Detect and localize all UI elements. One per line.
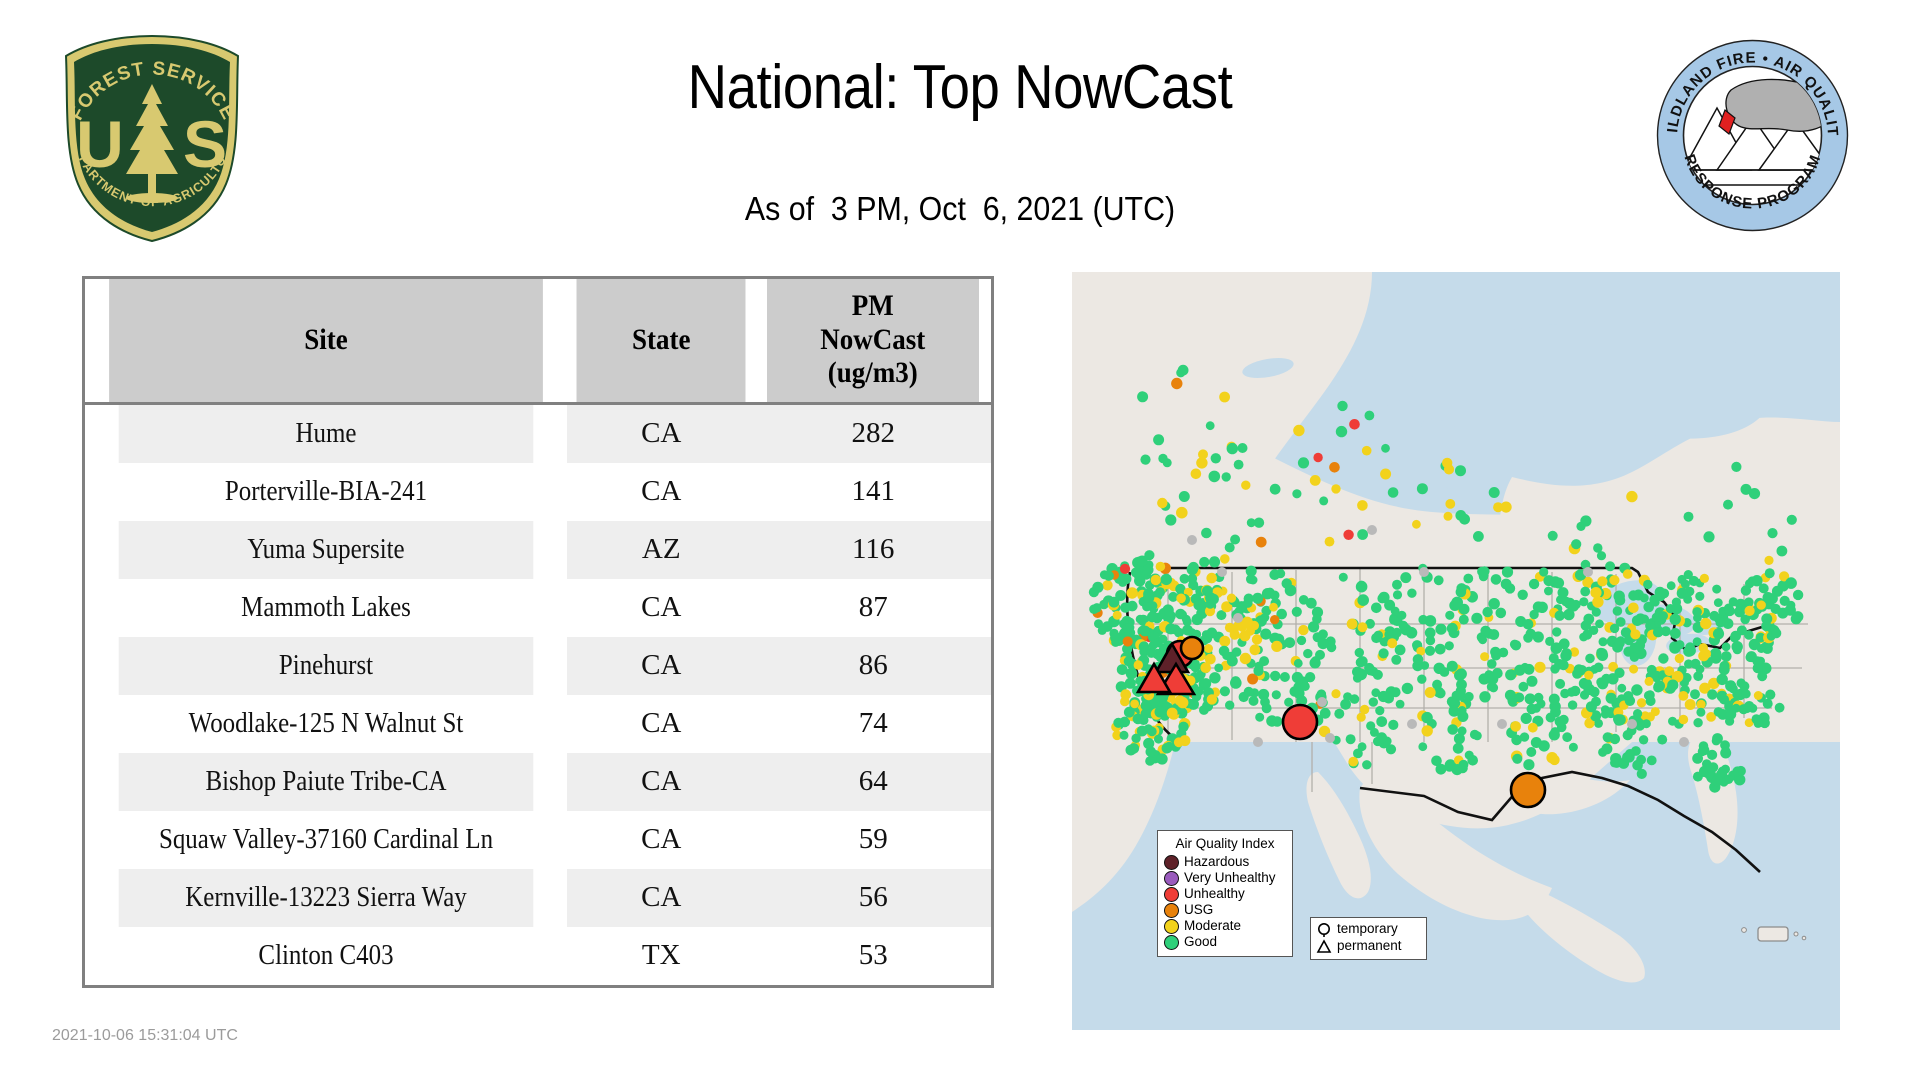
aqi-site-dot [1740, 615, 1750, 625]
aqi-site-dot [1407, 627, 1417, 637]
aqi-site-dot [1110, 632, 1121, 643]
aqi-site-dot [1130, 700, 1139, 709]
aqi-site-dot [1537, 699, 1546, 708]
aqi-site-dot [1124, 707, 1135, 718]
table-row: Mammoth LakesCA87 [85, 579, 991, 637]
table-cell-site: Mammoth Lakes [119, 579, 534, 637]
aqi-site-dot [1318, 629, 1328, 639]
aqi-site-dot [1196, 457, 1207, 468]
aqi-site-dot [1482, 607, 1492, 617]
aqi-site-dot [1684, 512, 1694, 522]
aqi-site-dot [1584, 671, 1593, 680]
aqi-site-dot [1204, 644, 1213, 653]
aqi-site-dot [1371, 603, 1382, 614]
aqi-site-dot [1714, 598, 1723, 607]
aqi-site-dot [1425, 687, 1436, 698]
aqi-site-dot [1505, 669, 1516, 680]
aqi-site-dot [1155, 587, 1165, 597]
aqi-site-dot [1563, 609, 1574, 620]
aqi-site-dot [1594, 663, 1604, 673]
column-header-state: State [576, 279, 746, 403]
aqi-site-dot [1412, 520, 1421, 529]
aqi-site-dot [1775, 703, 1785, 713]
aqi-site-dot [1123, 636, 1133, 646]
aqi-site-dot [1176, 594, 1186, 604]
aqi-site-dot [1659, 589, 1669, 599]
aqi-site-dot [1463, 574, 1473, 584]
legend-item-permanent: permanent [1316, 938, 1421, 955]
aqi-site-dot [1358, 622, 1368, 632]
aqi-site-dot [1562, 732, 1572, 742]
aqi-site-dot [1744, 630, 1754, 640]
table-cell-value: 59 [755, 811, 991, 869]
aqi-site-dot [1165, 514, 1176, 525]
aqi-site-dot [1639, 735, 1648, 744]
aqi-site-dot [1243, 598, 1253, 608]
aqi-site-dot [1140, 455, 1150, 465]
aqi-site-dot [1539, 567, 1548, 576]
aqi-legend-swatch [1164, 935, 1179, 950]
aqi-site-dot [1214, 664, 1223, 673]
aqi-site-dot [1357, 594, 1369, 606]
aqi-site-dot [1592, 596, 1603, 607]
aqi-site-dot [1726, 709, 1737, 720]
aqi-site-dot [1613, 606, 1623, 616]
aqi-site-dot [1113, 611, 1122, 620]
aqi-site-dot [1230, 535, 1240, 545]
aqi-site-dot [1610, 624, 1619, 633]
table-cell-site: Hume [119, 403, 534, 463]
aqi-site-dot [1630, 629, 1640, 639]
table-cell-site: Squaw Valley-37160 Cardinal Ln [119, 811, 534, 869]
aqi-site-dot [1491, 574, 1502, 585]
aqi-legend-item: Moderate [1164, 918, 1286, 934]
aqi-site-dot [1637, 698, 1646, 707]
table-cell-state: CA [567, 753, 755, 811]
aqi-site-dot [1376, 716, 1387, 727]
aqi-site-dot [1670, 628, 1681, 639]
aqi-site-dot [1188, 574, 1198, 584]
aqi-site-dot [1260, 697, 1270, 707]
aqi-site-dot [1343, 692, 1352, 701]
aqi-site-dot [1567, 687, 1576, 696]
aqi-site-dot [1176, 507, 1188, 519]
aqi-site-dot [1392, 628, 1402, 638]
aqi-site-dot [1444, 512, 1453, 521]
aqi-site-dot [1355, 648, 1364, 657]
aqi-site-dot [1231, 676, 1241, 686]
aqi-site-dot [1721, 651, 1732, 662]
aqi-site-dot [1137, 556, 1148, 567]
top-site-marker-circle [1283, 705, 1317, 739]
aqi-site-dot [1759, 583, 1769, 593]
aqi-site-dot [1527, 676, 1538, 687]
aqi-site-dot [1537, 602, 1548, 613]
aqi-site-dot [1586, 701, 1597, 712]
aqi-site-dot [1610, 758, 1619, 767]
aqi-site-dot [1787, 515, 1797, 525]
aqi-site-dot [1303, 649, 1312, 658]
aqi-site-dot [1310, 475, 1321, 486]
aqi-site-dot [1764, 556, 1773, 565]
aqi-site-dot [1710, 648, 1722, 660]
aqi-site-dot [1579, 597, 1588, 606]
aqi-site-dot [1724, 775, 1733, 784]
aqi-legend-label: Moderate [1184, 918, 1241, 934]
aqi-site-dot [1455, 510, 1466, 521]
table-cell-site: Pinehurst [119, 637, 534, 695]
aqi-site-dot [1120, 697, 1130, 707]
aqi-legend-swatch [1164, 919, 1179, 934]
aqi-site-dot [1179, 491, 1190, 502]
table-row: Clinton C403TX53 [85, 927, 991, 985]
aqi-site-dot [1505, 690, 1516, 701]
aqi-site-dot [1145, 756, 1155, 766]
circle-marker-icon [1316, 922, 1332, 938]
aqi-site-dot [1527, 704, 1537, 714]
aqi-site-dot [1610, 734, 1620, 744]
aqi-site-dot [1284, 698, 1293, 707]
aqi-site-dot [1293, 425, 1304, 436]
aqi-site-dot [1451, 597, 1463, 609]
table-cell-value: 141 [755, 463, 991, 521]
aqi-site-dot [1712, 775, 1723, 786]
aqi-site-dot [1617, 684, 1626, 693]
aqi-site-dot [1388, 487, 1399, 498]
aqi-site-dot [1695, 592, 1704, 601]
aqi-site-dot [1259, 656, 1269, 666]
aqi-site-dot [1422, 725, 1433, 736]
table-cell-state: AZ [567, 521, 755, 579]
aqi-site-dot [1199, 557, 1209, 567]
aqi-site-dot [1386, 744, 1396, 754]
aqi-site-dot [1679, 691, 1689, 701]
aqi-site-dot [1645, 677, 1654, 686]
aqi-site-dot [1240, 653, 1251, 664]
triangle-marker-icon [1316, 939, 1332, 955]
table-row: Bishop Paiute Tribe-CACA64 [85, 753, 991, 811]
aqi-site-dot [1320, 708, 1331, 719]
aqi-site-dot [1531, 737, 1542, 748]
table-cell-site: Yuma Supersite [119, 521, 534, 579]
aqi-site-dot [1127, 587, 1138, 598]
aqi-site-dot [1785, 577, 1797, 589]
aqi-site-dot [1165, 607, 1174, 616]
aqi-site-dot [1133, 714, 1144, 725]
aqi-site-dot [1720, 748, 1731, 759]
aqi-site-dot [1392, 580, 1402, 590]
aqi-site-dot [1597, 650, 1608, 661]
column-header-pm-line3: (ug/m3) [771, 356, 976, 390]
aqi-site-dot [1552, 627, 1561, 636]
aqi-site-dot [1672, 598, 1681, 607]
aqi-site-dot [1785, 605, 1796, 616]
aqi-site-dot [1269, 603, 1278, 612]
aqi-site-dot [1115, 590, 1126, 601]
aqi-site-dot [1206, 421, 1215, 430]
aqi-site-dot [1349, 419, 1360, 430]
aqi-site-dot [1761, 613, 1772, 624]
aqi-legend-title: Air Quality Index [1164, 836, 1286, 852]
table-cell-site: Bishop Paiute Tribe-CA [119, 753, 534, 811]
aqi-site-dot [1645, 690, 1654, 699]
aqi-site-dot [1543, 575, 1554, 586]
aqi-site-dot [1580, 587, 1590, 597]
aqi-site-dot [1188, 562, 1199, 573]
aqi-site-dot [1629, 665, 1638, 674]
aqi-site-dot [1285, 585, 1297, 597]
aqi-site-dot [1219, 646, 1230, 657]
aqi-site-dot [1435, 644, 1446, 655]
table-cell-state: CA [567, 869, 755, 927]
aqi-site-dot-nodata [1253, 737, 1263, 747]
site-type-legend: temporary permanent [1310, 917, 1427, 960]
aqi-site-dot [1692, 753, 1703, 764]
aqi-legend-label: Hazardous [1184, 854, 1249, 870]
aqi-site-dot [1623, 569, 1633, 579]
aqi-site-dot [1219, 392, 1230, 403]
aqi-site-dot [1220, 686, 1230, 696]
aqi-site-dot [1675, 654, 1684, 663]
aqi-site-dot [1191, 469, 1202, 480]
aqi-site-dot [1421, 712, 1432, 723]
aqi-site-dot [1381, 444, 1390, 453]
aqi-site-dot [1445, 499, 1455, 509]
aqi-site-dot [1154, 735, 1163, 744]
aqi-site-dot [1544, 587, 1553, 596]
aqi-site-dot [1219, 636, 1230, 647]
aqi-site-dot [1754, 719, 1763, 728]
aqi-site-dot [1447, 724, 1458, 735]
table-row: HumeCA282 [85, 403, 991, 463]
aqi-site-dot [1601, 743, 1612, 754]
table-cell-state: CA [567, 695, 755, 753]
aqi-site-dot [1143, 592, 1154, 603]
table-row: PinehurstCA86 [85, 637, 991, 695]
aqi-site-dot [1707, 689, 1717, 699]
column-header-pm-line1: PM [771, 289, 976, 323]
aqi-site-dot [1632, 615, 1643, 626]
aqi-site-dot [1739, 681, 1749, 691]
aqi-site-dot [1136, 615, 1145, 624]
aqi-site-dot [1712, 585, 1721, 594]
aqi-site-dot [1156, 562, 1166, 572]
aqi-site-dot [1606, 693, 1617, 704]
aqi-site-dot [1653, 627, 1663, 637]
aqi-site-dot [1456, 587, 1467, 598]
aqi-site-dot [1362, 446, 1372, 456]
aqi-site-dot [1519, 682, 1529, 692]
table-cell-value: 74 [755, 695, 991, 753]
aqi-site-dot [1227, 594, 1236, 603]
aqi-site-dot [1713, 628, 1724, 639]
aqi-site-dot [1147, 648, 1157, 658]
aqi-legend-label: Unhealthy [1184, 886, 1245, 902]
aqi-site-dot [1571, 539, 1581, 549]
aqi-site-dot [1315, 650, 1325, 660]
aqi-site-dot [1137, 391, 1148, 402]
aqi-site-dot [1318, 638, 1329, 649]
legend-label-temporary: temporary [1337, 921, 1398, 938]
aqi-site-dot [1576, 522, 1585, 531]
aqi-site-dot [1241, 481, 1250, 490]
aqi-site-dot [1393, 590, 1402, 599]
aqi-site-dot [1628, 590, 1638, 600]
table-cell-site: Porterville-BIA-241 [119, 463, 534, 521]
aqi-site-dot [1331, 689, 1340, 698]
aqi-site-dot [1272, 716, 1283, 727]
table-cell-value: 282 [755, 403, 991, 463]
aqi-site-dot [1523, 633, 1533, 643]
aqi-legend-swatch [1164, 887, 1179, 902]
aqi-site-dot [1733, 645, 1742, 654]
aqi-site-dot [1234, 460, 1244, 470]
aqi-site-dot [1697, 700, 1706, 709]
aqi-site-dot [1585, 654, 1595, 664]
aqi-site-dot [1129, 743, 1140, 754]
table-cell-state: CA [567, 579, 755, 637]
aqi-site-dot [1613, 714, 1623, 724]
aqi-site-dot [1707, 750, 1717, 760]
aqi-site-dot [1357, 581, 1367, 591]
aqi-site-dot-nodata [1407, 719, 1417, 729]
aqi-site-dot [1793, 590, 1803, 600]
aqi-site-dot [1456, 668, 1467, 679]
aqi-site-dot [1417, 483, 1428, 494]
aqi-site-dot [1325, 537, 1335, 547]
footer-timestamp: 2021-10-06 15:31:04 UTC [52, 1027, 238, 1045]
aqi-site-dot [1312, 614, 1322, 624]
aqi-site-dot [1677, 588, 1688, 599]
aqi-site-dot [1777, 546, 1788, 557]
aqi-site-dot [1435, 688, 1445, 698]
top-site-marker-circle [1511, 773, 1545, 807]
aqi-site-dot [1249, 696, 1259, 706]
aqi-site-dot [1771, 604, 1781, 614]
aqi-site-dot [1407, 589, 1416, 598]
aqi-site-dot [1693, 718, 1702, 727]
aqi-site-dot [1561, 648, 1572, 659]
aqi-site-dot [1141, 701, 1151, 711]
aqi-site-dot [1616, 636, 1625, 645]
top-site-marker-circle [1181, 637, 1203, 659]
aqi-site-dot [1512, 754, 1522, 764]
aqi-site-dot [1529, 579, 1539, 589]
aqi-site-dot [1418, 742, 1427, 751]
aqi-site-dot [1098, 626, 1107, 635]
aqi-legend-swatch [1164, 871, 1179, 886]
aqi-site-dot [1232, 647, 1242, 657]
aqi-site-dot [1526, 747, 1536, 757]
aqi-site-dot [1177, 697, 1188, 708]
aqi-site-dot [1387, 638, 1397, 648]
aqi-site-dot [1632, 760, 1643, 771]
aqi-site-dot [1763, 592, 1774, 603]
aqi-site-dot-nodata [1187, 535, 1197, 545]
table-cell-site: Clinton C403 [119, 927, 534, 985]
aqi-site-dot [1249, 621, 1259, 631]
aqi-site-dot [1757, 671, 1767, 681]
aqi-site-dot [1238, 443, 1248, 453]
aqi-site-dot [1447, 661, 1458, 672]
aqi-site-dot [1595, 619, 1604, 628]
aqi-site-dot [1723, 500, 1733, 510]
aqi-site-dot [1765, 690, 1775, 700]
aqi-site-dot [1717, 674, 1728, 685]
aqi-site-dot [1284, 637, 1295, 648]
aqi-site-dot [1254, 518, 1264, 528]
aqi-site-dot [1464, 692, 1474, 702]
aqi-site-dot [1336, 426, 1347, 437]
aqi-site-dot [1658, 611, 1668, 621]
aqi-site-dot [1529, 610, 1538, 619]
aqi-site-dot [1514, 693, 1524, 703]
aqi-site-dot [1435, 624, 1446, 635]
aqi-site-dot [1511, 640, 1521, 650]
aqi-site-dot [1244, 687, 1254, 697]
aqi-site-dot [1445, 762, 1455, 772]
aqi-legend-label: Very Unhealthy [1184, 870, 1276, 886]
aqi-site-dot [1692, 607, 1702, 617]
aqi-site-dot [1142, 602, 1151, 611]
aqi-site-dot [1313, 453, 1322, 462]
aqi-site-dot [1489, 487, 1500, 498]
aqi-site-dot [1719, 695, 1729, 705]
aqi-site-dot [1684, 659, 1693, 668]
aqi-site-dot [1425, 627, 1436, 638]
aqi-site-dot [1626, 491, 1637, 502]
aqi-site-dot [1458, 706, 1467, 715]
aqi-site-dot [1292, 607, 1302, 617]
column-header-pm-line2: NowCast [771, 323, 976, 357]
aqi-site-dot [1397, 611, 1406, 620]
aqi-site-dot [1417, 675, 1426, 684]
aqi-site-dot [1479, 566, 1489, 576]
aqi-site-dot [1467, 755, 1478, 766]
aqi-site-dot [1298, 457, 1309, 468]
aqi-site-dot [1131, 567, 1141, 577]
aqi-site-dot [1555, 716, 1565, 726]
aqi-site-dot [1601, 674, 1611, 684]
aqi-site-dot [1227, 443, 1238, 454]
aqi-site-dot [1703, 531, 1714, 542]
aqi-site-dot [1155, 706, 1166, 717]
aqi-site-dot [1502, 567, 1513, 578]
aqi-site-dot [1171, 378, 1182, 389]
aqi-site-dot [1208, 594, 1219, 605]
table-header-row: Site State PM NowCast (ug/m3) [85, 279, 991, 403]
aqi-site-dot [1754, 691, 1763, 700]
aqi-site-dot [1702, 649, 1712, 659]
aqi-site-dot-nodata [1497, 719, 1507, 729]
aqi-site-dot [1685, 642, 1695, 652]
aqi-site-dot [1479, 691, 1490, 702]
aqi-site-dot [1669, 641, 1679, 651]
aqi-site-dot [1442, 458, 1452, 468]
aqi-site-dot [1625, 749, 1635, 759]
aqi-site-dot [1555, 679, 1565, 689]
aqi-site-dot [1505, 583, 1515, 593]
aqi-site-dot-nodata [1217, 567, 1227, 577]
aqi-site-dot [1413, 654, 1424, 665]
aqi-site-dot [1207, 694, 1217, 704]
aqi-site-dot [1561, 597, 1571, 607]
aqi-site-dot [1294, 659, 1303, 668]
table-cell-state: TX [567, 927, 755, 985]
aqi-site-dot [1383, 693, 1394, 704]
aqi-site-dot [1614, 591, 1625, 602]
aqi-site-dot [1365, 665, 1375, 675]
